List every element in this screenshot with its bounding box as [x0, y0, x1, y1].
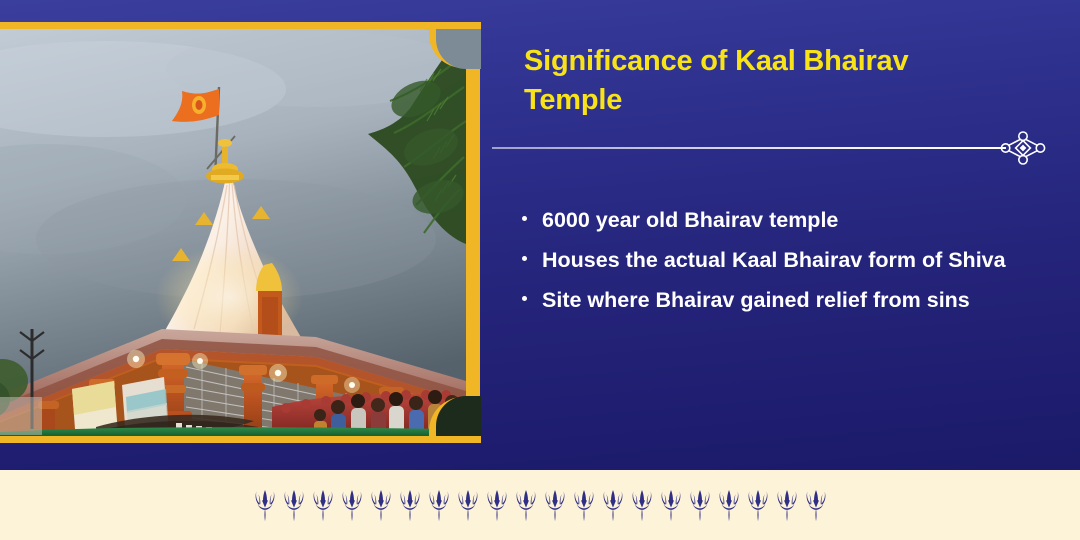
knot-diamond-ornament: [1000, 131, 1046, 165]
trishul-icon: [341, 488, 363, 522]
trishul-icon: [805, 488, 827, 522]
list-item: Site where Bhairav gained relief from si…: [508, 280, 1048, 320]
divider-line: [492, 147, 1006, 149]
content-column: Significance of Kaal Bhairav Temple: [492, 0, 1080, 470]
trishul-icon: [312, 488, 334, 522]
trishul-icon: [370, 488, 392, 522]
page-title: Significance of Kaal Bhairav Temple: [524, 42, 994, 119]
bullet-text: Houses the actual Kaal Bhairav form of S…: [542, 248, 1006, 272]
trishul-icon: [544, 488, 566, 522]
trishul-icon: [689, 488, 711, 522]
trishul-icon: [428, 488, 450, 522]
slide-canvas: Significance of Kaal Bhairav Temple: [0, 0, 1080, 540]
list-item: Houses the actual Kaal Bhairav form of S…: [508, 240, 1048, 280]
footer-band: [0, 470, 1080, 540]
bullet-text: Site where Bhairav gained relief from si…: [542, 288, 970, 312]
bullet-dot-icon: [522, 296, 527, 301]
trishul-icon: [515, 488, 537, 522]
trishul-icon: [254, 488, 276, 522]
photo-clip: [0, 29, 466, 436]
trishul-icon: [486, 488, 508, 522]
bullet-dot-icon: [522, 216, 527, 221]
bullet-text: 6000 year old Bhairav temple: [542, 208, 838, 232]
trishul-icon: [631, 488, 653, 522]
list-item: 6000 year old Bhairav temple: [508, 200, 1048, 240]
trishul-icon: [399, 488, 421, 522]
bullet-list: 6000 year old Bhairav temple Houses the …: [508, 200, 1048, 321]
trishul-icon: [573, 488, 595, 522]
trishul-icon: [660, 488, 682, 522]
trishul-row: [254, 488, 827, 522]
bullet-dot-icon: [522, 256, 527, 261]
trishul-icon: [747, 488, 769, 522]
trishul-icon: [718, 488, 740, 522]
trishul-icon: [602, 488, 624, 522]
divider: [492, 147, 1047, 149]
photo-frame: [0, 22, 480, 443]
temple-photo: [0, 29, 466, 436]
trishul-icon: [457, 488, 479, 522]
trishul-icon: [776, 488, 798, 522]
trishul-icon: [283, 488, 305, 522]
